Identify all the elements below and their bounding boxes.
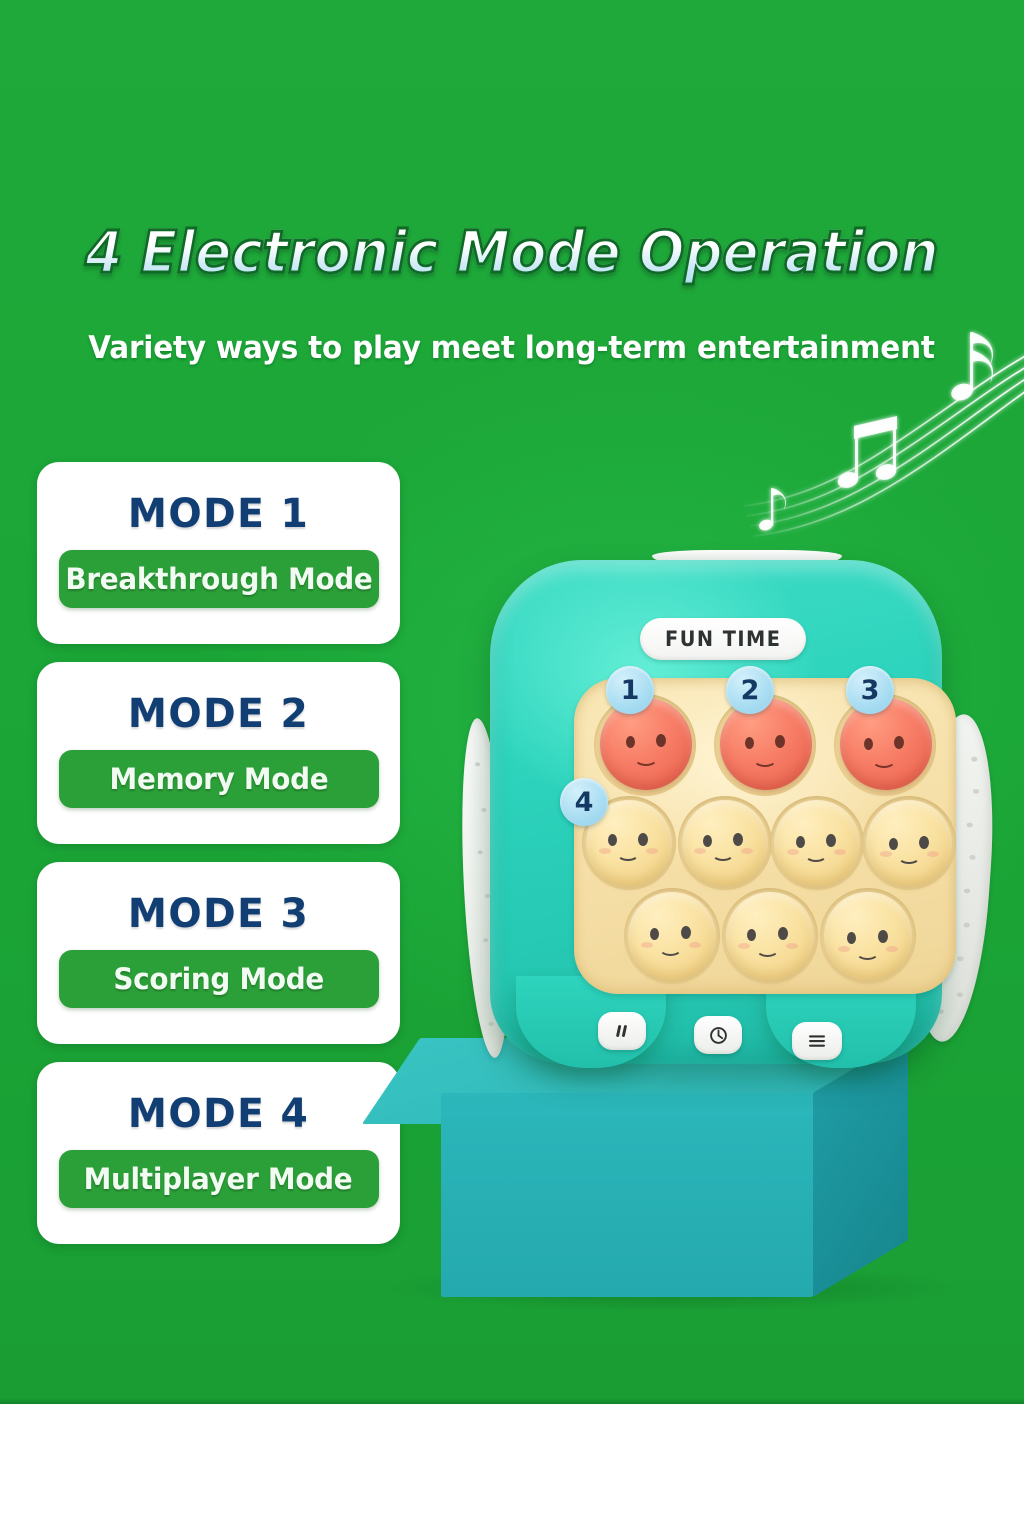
smile bbox=[756, 942, 779, 957]
bubble-red-3[interactable] bbox=[840, 698, 932, 790]
badge-number: 2 bbox=[741, 677, 760, 704]
mode-card-2[interactable]: MODE 2 Memory Mode bbox=[37, 662, 400, 844]
console-body: FUN TIME bbox=[490, 560, 942, 1064]
cheek bbox=[886, 946, 898, 952]
mode-name-label: Memory Mode bbox=[109, 762, 328, 796]
mode-card-list: MODE 1 Breakthrough Mode MODE 2 Memory M… bbox=[37, 462, 400, 1262]
pedestal-box bbox=[420, 1038, 940, 1308]
badge-1: 1 bbox=[606, 666, 654, 714]
mode-name-label: Scoring Mode bbox=[113, 962, 324, 996]
eye bbox=[745, 737, 754, 749]
eye bbox=[681, 926, 691, 939]
badge-number: 1 bbox=[621, 677, 640, 704]
bubble-grid: 1 2 3 4 bbox=[574, 678, 956, 994]
cheek bbox=[838, 946, 850, 952]
bubble-panel: 1 2 3 4 bbox=[574, 678, 956, 994]
brand-label-pill: FUN TIME bbox=[640, 618, 806, 660]
smile bbox=[898, 850, 920, 864]
bubble-yellow-5[interactable] bbox=[628, 892, 716, 980]
cheek bbox=[741, 848, 753, 854]
eye bbox=[638, 833, 648, 846]
control-button-row bbox=[598, 1012, 848, 1056]
badge-number: 3 bbox=[861, 677, 880, 704]
bubble-red-2[interactable] bbox=[720, 698, 812, 790]
music-note-icon bbox=[612, 1021, 632, 1041]
mode-card-1[interactable]: MODE 1 Breakthrough Mode bbox=[37, 462, 400, 644]
smile bbox=[753, 751, 777, 767]
smile bbox=[872, 752, 896, 768]
eye bbox=[847, 932, 856, 944]
bubble-yellow-4[interactable] bbox=[866, 800, 952, 886]
bubble-yellow-3[interactable] bbox=[774, 800, 860, 886]
pop-it-console: FUN TIME bbox=[440, 538, 1000, 1078]
eye bbox=[796, 836, 805, 848]
eye bbox=[608, 834, 617, 846]
mode-card-4[interactable]: MODE 4 Multiplayer Mode bbox=[37, 1062, 400, 1244]
music-button[interactable] bbox=[598, 1012, 646, 1050]
cheek bbox=[880, 851, 892, 857]
eye bbox=[889, 838, 898, 850]
mode-name-label: Breakthrough Mode bbox=[65, 562, 372, 596]
mode-name-pill: Breakthrough Mode bbox=[59, 550, 379, 608]
smile bbox=[634, 750, 658, 766]
smile bbox=[856, 945, 879, 960]
eye bbox=[864, 738, 873, 750]
bubble-yellow-2[interactable] bbox=[682, 800, 768, 886]
cheek bbox=[834, 849, 846, 855]
badge-4: 4 bbox=[560, 778, 608, 826]
smile bbox=[617, 847, 639, 861]
mode-name-pill: Scoring Mode bbox=[59, 950, 379, 1008]
power-button[interactable] bbox=[694, 1016, 742, 1054]
eye bbox=[747, 929, 756, 941]
mode-card-title: MODE 2 bbox=[128, 694, 309, 734]
smile bbox=[712, 847, 734, 861]
pedestal-front-face bbox=[441, 1093, 813, 1297]
brand-label-text: FUN TIME bbox=[665, 627, 781, 651]
page-title: 4 Electronic Mode Operation bbox=[85, 222, 938, 283]
cheek bbox=[599, 848, 611, 854]
page-subtitle: Variety ways to play meet long-term ente… bbox=[89, 330, 935, 366]
bottom-white-margin bbox=[0, 1404, 1024, 1536]
badge-3: 3 bbox=[846, 666, 894, 714]
menu-button[interactable] bbox=[792, 1022, 842, 1060]
menu-icon bbox=[806, 1033, 828, 1049]
smile bbox=[659, 941, 682, 956]
eye bbox=[894, 736, 904, 749]
cheek bbox=[738, 943, 750, 949]
cheek bbox=[927, 851, 939, 857]
poster-canvas: 4 Electronic Mode Operation Variety ways… bbox=[0, 0, 1024, 1536]
smile bbox=[805, 848, 827, 862]
badge-number: 4 bbox=[575, 789, 594, 816]
cheek bbox=[689, 942, 701, 948]
eye bbox=[656, 734, 666, 747]
badge-2: 2 bbox=[726, 666, 774, 714]
cheek bbox=[694, 848, 706, 854]
cheek bbox=[641, 942, 653, 948]
mode-card-title: MODE 1 bbox=[128, 494, 309, 534]
mode-card-3[interactable]: MODE 3 Scoring Mode bbox=[37, 862, 400, 1044]
eye bbox=[778, 927, 788, 940]
eye bbox=[703, 835, 712, 847]
mode-card-title: MODE 4 bbox=[128, 1094, 309, 1134]
eye bbox=[826, 834, 836, 847]
eye bbox=[626, 736, 635, 748]
bubble-yellow-7[interactable] bbox=[824, 892, 912, 980]
eye bbox=[775, 735, 785, 748]
eye bbox=[733, 833, 743, 846]
cheek bbox=[787, 849, 799, 855]
cheek bbox=[646, 848, 658, 854]
cheek bbox=[786, 943, 798, 949]
eye bbox=[919, 836, 929, 849]
bubble-red-1[interactable] bbox=[600, 698, 692, 790]
eye bbox=[650, 928, 659, 940]
product-scene: FUN TIME bbox=[400, 530, 1024, 1350]
bubble-yellow-6[interactable] bbox=[726, 892, 814, 980]
subheadline-container: Variety ways to play meet long-term ente… bbox=[0, 330, 1024, 366]
mode-card-title: MODE 3 bbox=[128, 894, 309, 934]
mode-name-pill: Memory Mode bbox=[59, 750, 379, 808]
mode-name-pill: Multiplayer Mode bbox=[59, 1150, 379, 1208]
eye bbox=[878, 930, 888, 943]
mode-name-label: Multiplayer Mode bbox=[84, 1162, 353, 1196]
power-timer-icon bbox=[708, 1025, 729, 1046]
headline-container: 4 Electronic Mode Operation bbox=[0, 222, 1024, 283]
